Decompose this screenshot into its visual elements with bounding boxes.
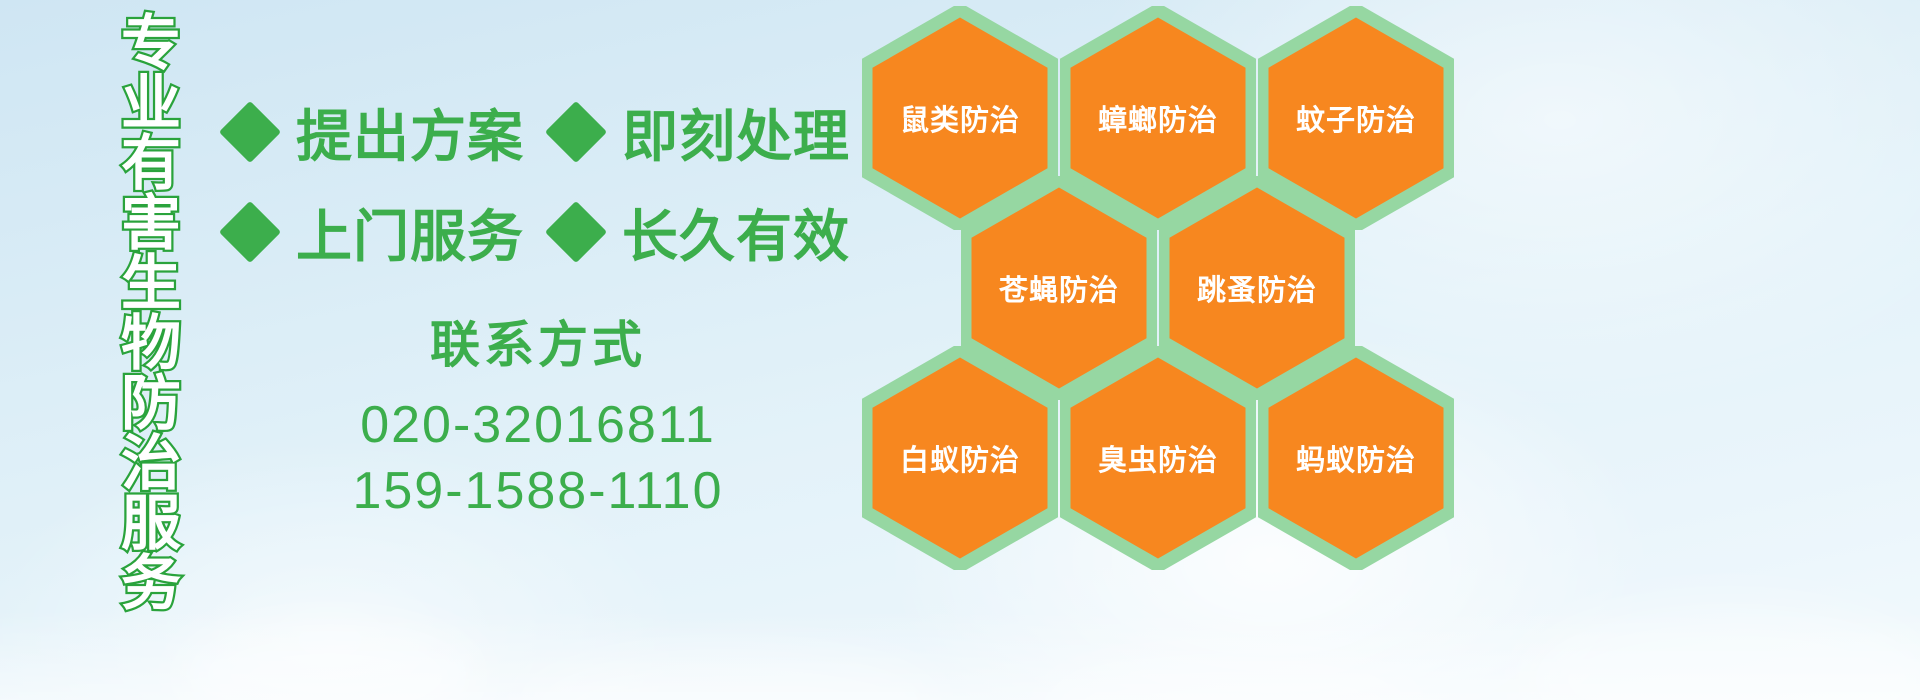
vertical-title-char: 治: [121, 434, 181, 494]
service-hex-bedbugs[interactable]: 臭虫防治: [1060, 346, 1256, 570]
diamond-icon: [545, 101, 607, 163]
contact-block: 联系方式 020-32016811 159-1588-1110: [228, 310, 848, 524]
service-hex-ants[interactable]: 蚂蚁防治: [1258, 346, 1454, 570]
service-hex-label: 白蚁防治: [862, 346, 1058, 570]
feature-label: 即刻处理: [622, 92, 850, 173]
contact-title: 联系方式: [228, 310, 848, 380]
vertical-title-char: 防: [121, 374, 181, 434]
vertical-title-char: 服: [121, 494, 181, 554]
vertical-title-char: 物: [121, 314, 181, 374]
diamond-icon: [545, 201, 607, 263]
service-hex-termites[interactable]: 白蚁防治: [862, 346, 1058, 570]
feature-row: 提出方案 即刻处理: [228, 82, 868, 182]
banner-stage: 专 业 有 害 生 物 防 治 服 务 提出方案 即刻处理 上门服务 长久有效: [0, 0, 1920, 700]
service-hex-label: 臭虫防治: [1060, 346, 1256, 570]
vertical-title-char: 专: [121, 14, 181, 74]
background-bottom-fade: [0, 610, 1920, 700]
phone-number-mobile[interactable]: 159-1588-1110: [228, 458, 848, 524]
feature-label: 长久有效: [622, 192, 850, 273]
feature-label: 上门服务: [296, 192, 524, 273]
diamond-icon: [219, 101, 281, 163]
vertical-title-char: 害: [121, 194, 181, 254]
feature-list: 提出方案 即刻处理 上门服务 长久有效: [228, 82, 868, 282]
vertical-title-char: 有: [121, 134, 181, 194]
vertical-title-char: 生: [121, 254, 181, 314]
feature-row: 上门服务 长久有效: [228, 182, 868, 282]
phone-number-landline[interactable]: 020-32016811: [228, 392, 848, 458]
service-honeycomb: 鼠类防治 蟑螂防治 蚊子防治 苍蝇防治 跳蚤防治: [862, 0, 1462, 560]
diamond-icon: [219, 201, 281, 263]
service-hex-label: 蚂蚁防治: [1258, 346, 1454, 570]
vertical-title-char: 业: [121, 74, 181, 134]
vertical-title-char: 务: [121, 554, 181, 614]
vertical-title: 专 业 有 害 生 物 防 治 服 务: [105, 14, 197, 570]
feature-label: 提出方案: [296, 92, 524, 173]
